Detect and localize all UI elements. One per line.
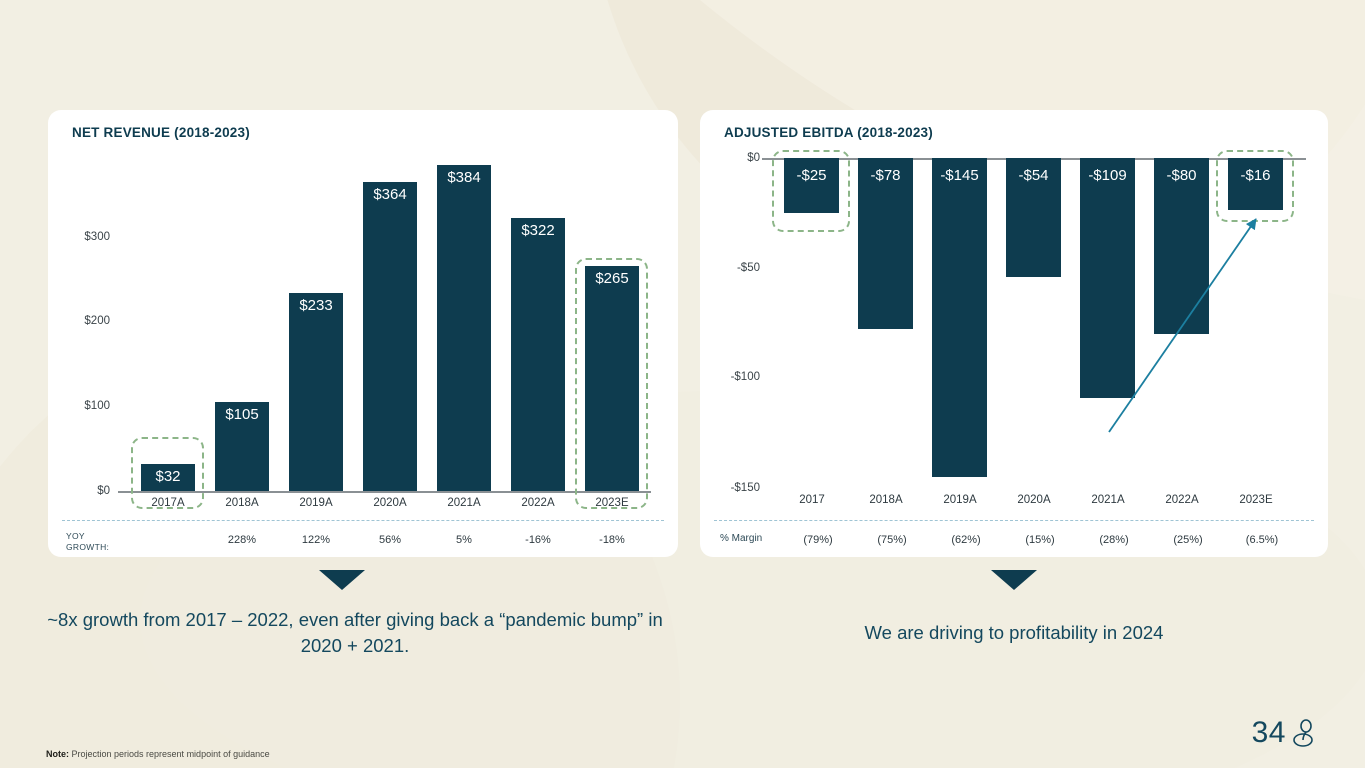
y-tick-right-100: -$100 [708, 371, 760, 383]
bar-2021a-right [1080, 158, 1135, 398]
margin-label: % Margin [720, 533, 762, 544]
footnote: Note: Projection periods represent midpo… [46, 749, 270, 759]
cat-label-right-1: 2018A [856, 494, 916, 506]
margin-value-3: (15%) [1025, 534, 1054, 546]
bar-2023e-right [1228, 158, 1283, 210]
bar-label-2019a-right: -$145 [932, 167, 987, 184]
margin-value-4: (28%) [1099, 534, 1128, 546]
yoy-value-4: 5% [456, 534, 472, 546]
cat-label-2: 2019A [286, 497, 346, 509]
y-tick-left-0: $0 [58, 485, 110, 497]
triangle-down-icon-right [991, 570, 1037, 590]
bar-label-2023e: $265 [585, 270, 639, 287]
adjusted-ebitda-title: ADJUSTED EBITDA (2018-2023) [724, 125, 933, 140]
yoy-value-5: -16% [525, 534, 551, 546]
y-tick-right-0: $0 [708, 152, 760, 164]
bar-label-2017a: $32 [141, 468, 195, 485]
y-tick-left-300: $300 [58, 231, 110, 243]
adjusted-ebitda-card: ADJUSTED EBITDA (2018-2023) $0 -$50 -$10… [700, 110, 1328, 557]
cat-label-right-0: 2017 [782, 494, 842, 506]
bar-label-2022a-right: -$80 [1154, 167, 1209, 184]
bar-2020a [363, 182, 417, 491]
bar-2023e [585, 266, 639, 491]
cat-label-right-6: 2023E [1226, 494, 1286, 506]
cat-label-right-2: 2019A [930, 494, 990, 506]
bar-label-2020a-right: -$54 [1006, 167, 1061, 184]
cat-label-5: 2022A [508, 497, 568, 509]
margin-value-2: (62%) [951, 534, 980, 546]
y-tick-right-150: -$150 [708, 482, 760, 494]
cat-label-right-3: 2020A [1004, 494, 1064, 506]
bar-label-2017: -$25 [784, 167, 839, 184]
margin-value-0: (79%) [803, 534, 832, 546]
right-caption: We are driving to profitability in 2024 [700, 620, 1328, 646]
cat-label-4: 2021A [434, 497, 494, 509]
cat-label-3: 2020A [360, 497, 420, 509]
bar-2022a [511, 218, 565, 491]
net-revenue-title: NET REVENUE (2018-2023) [72, 125, 250, 140]
bar-label-2020a: $364 [363, 186, 417, 203]
yoy-value-1: 228% [228, 534, 256, 546]
y-tick-left-100: $100 [58, 400, 110, 412]
bar-2019a-right [932, 158, 987, 477]
y-tick-left-200: $200 [58, 315, 110, 327]
cat-label-0: 2017A [138, 497, 198, 509]
bar-label-2018a-right: -$78 [858, 167, 913, 184]
net-revenue-card: NET REVENUE (2018-2023) $0 $100 $200 $30… [48, 110, 678, 557]
strip-divider-right [714, 520, 1314, 521]
margin-value-5: (25%) [1173, 534, 1202, 546]
margin-value-6: (6.5%) [1246, 534, 1278, 546]
yoy-value-6: -18% [599, 534, 625, 546]
cat-label-right-4: 2021A [1078, 494, 1138, 506]
margin-value-1: (75%) [877, 534, 906, 546]
bar-2019a [289, 293, 343, 491]
bar-2022a-right [1154, 158, 1209, 334]
cat-label-1: 2018A [212, 497, 272, 509]
bar-label-2023e-right: -$16 [1228, 167, 1283, 184]
y-tick-right-50: -$50 [708, 262, 760, 274]
bar-label-2021a-right: -$109 [1080, 167, 1135, 184]
cat-label-right-5: 2022A [1152, 494, 1212, 506]
stylized-g-logo-icon [1293, 718, 1315, 748]
yoy-value-2: 122% [302, 534, 330, 546]
bar-label-2019a: $233 [289, 297, 343, 314]
left-caption: ~8x growth from 2017 – 2022, even after … [30, 607, 680, 659]
cat-label-6: 2023E [582, 497, 642, 509]
page-number: 34 [1252, 716, 1286, 750]
page-number-block: 34 [1252, 716, 1315, 750]
bar-label-2021a: $384 [437, 169, 491, 186]
strip-divider-left [62, 520, 664, 521]
yoy-growth-label: YOY GROWTH: [66, 531, 109, 553]
triangle-down-icon-left [319, 570, 365, 590]
bar-label-2022a: $322 [511, 222, 565, 239]
footnote-text: Projection periods represent midpoint of… [69, 749, 270, 759]
bar-2021a [437, 165, 491, 491]
bar-label-2018a: $105 [215, 406, 269, 423]
yoy-value-3: 56% [379, 534, 401, 546]
footnote-prefix: Note: [46, 749, 69, 759]
